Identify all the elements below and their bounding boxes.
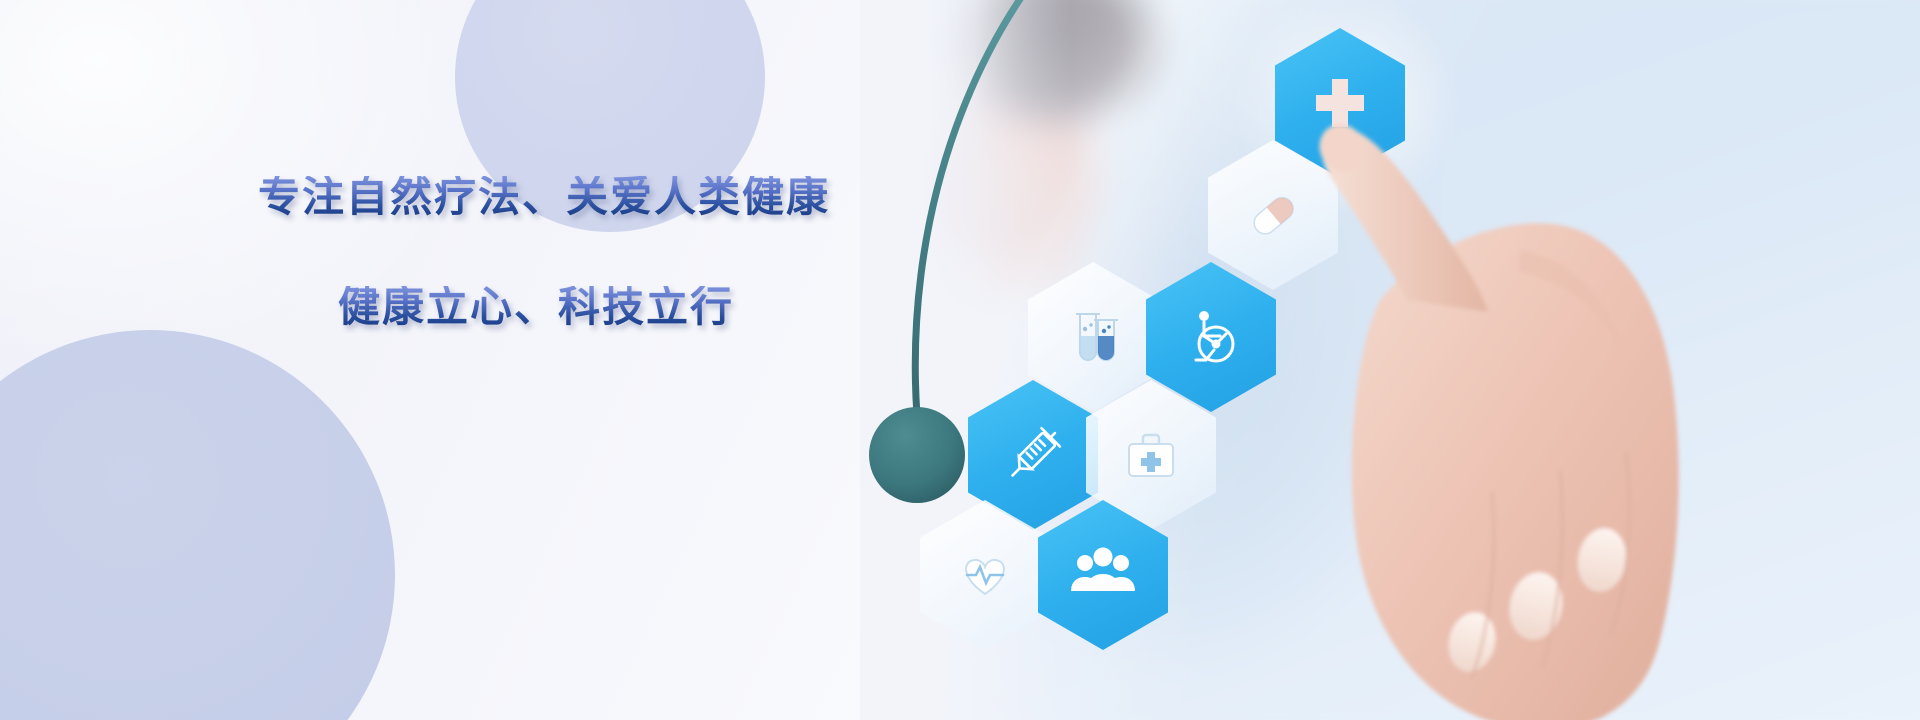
decorative-circle-bottom <box>0 330 395 720</box>
headline-block: 专注自然疗法、关爱人类健康 健康立心、科技立行 <box>258 176 958 328</box>
doctor-photo-panel <box>860 0 1920 720</box>
headline-line-2: 健康立心、科技立行 <box>338 286 958 328</box>
doctor-photo <box>860 0 1920 720</box>
health-banner: 专注自然疗法、关爱人类健康 健康立心、科技立行 <box>0 0 1920 720</box>
headline-line-1: 专注自然疗法、关爱人类健康 <box>258 176 958 218</box>
